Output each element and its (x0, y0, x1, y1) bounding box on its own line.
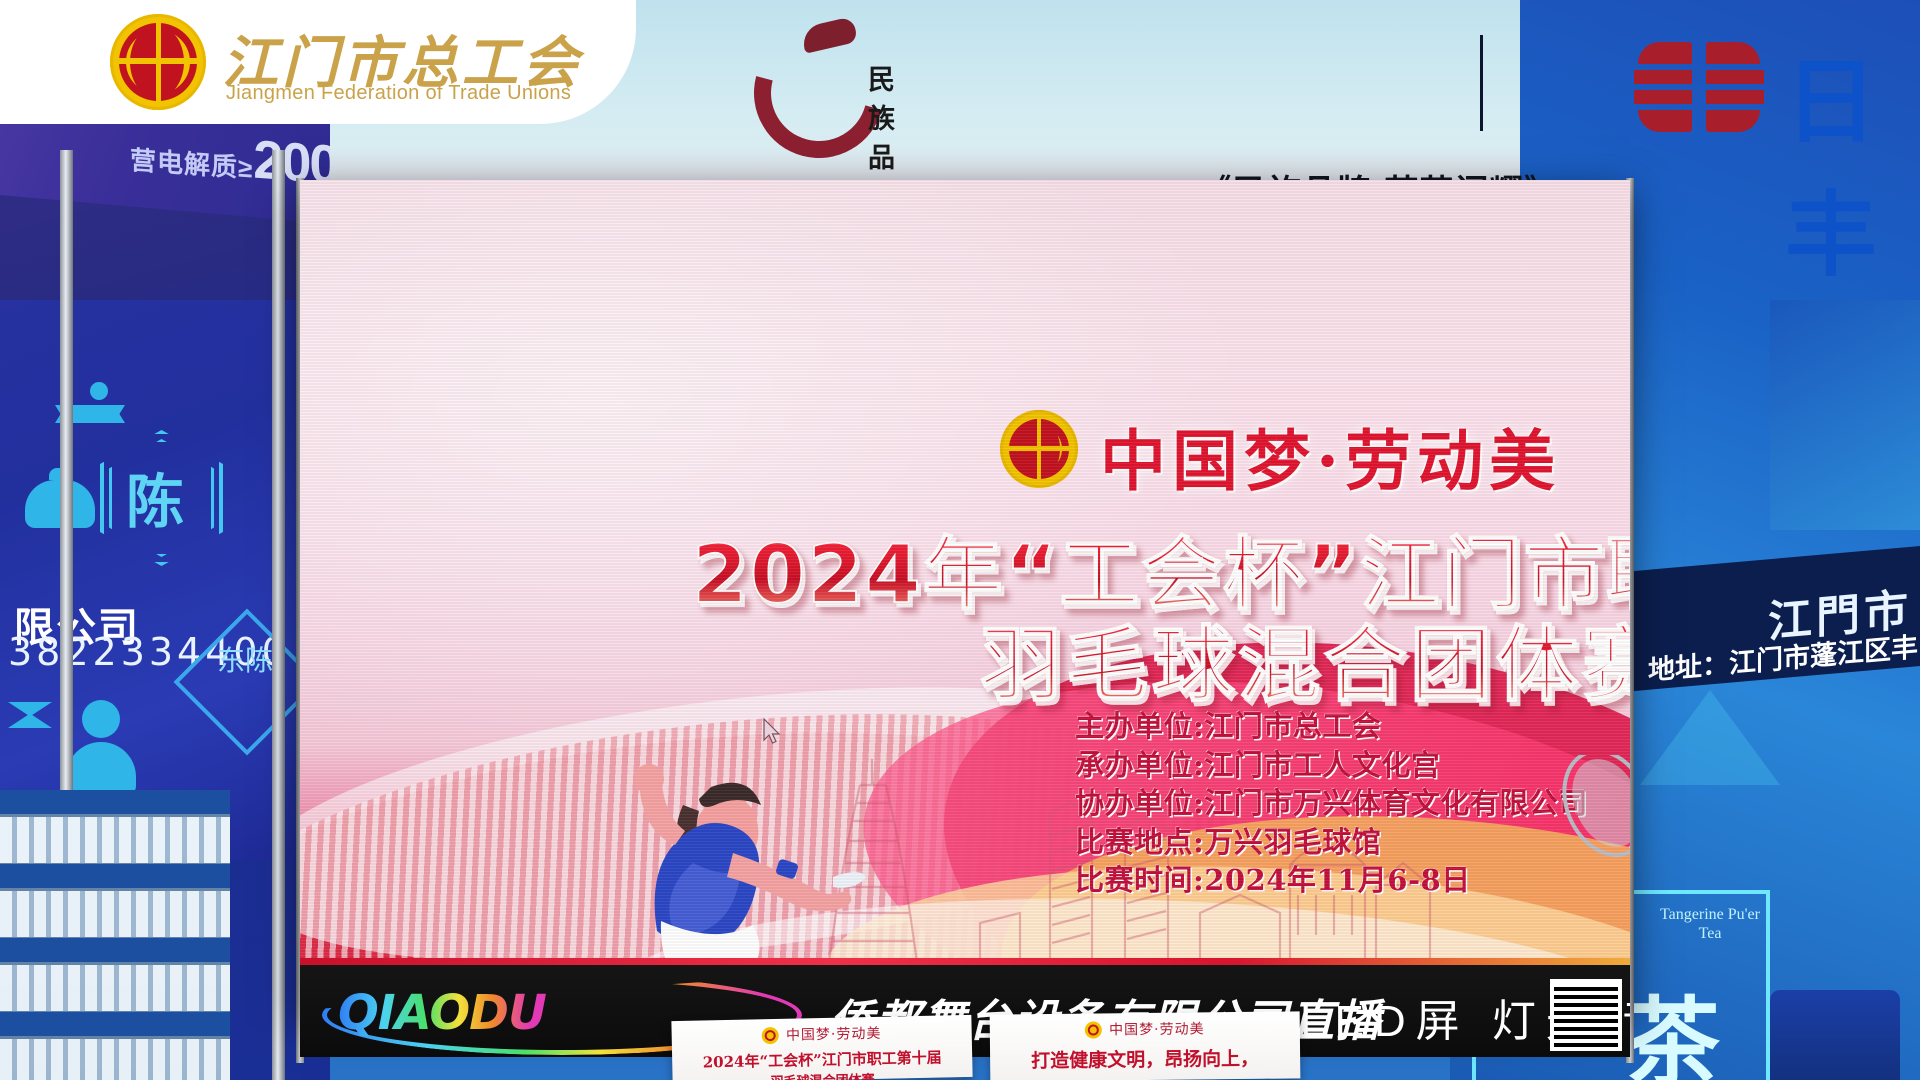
trade-union-emblem-icon (762, 1026, 779, 1043)
qiaodu-brand-en: QIAODU (338, 985, 546, 1041)
trade-union-emblem-icon (1000, 410, 1078, 488)
placard-motto-text: 打造健康文明，昂扬向上， (990, 1043, 1300, 1073)
chair (1770, 990, 1900, 1080)
left-blue-poster: 陈 限公司 3822334400 东陈 (0, 300, 300, 860)
support-pole (272, 150, 285, 1080)
led-display-board: 中国梦·劳动美 2024年“工会杯”江门市职工第十届 羽毛球混合团体赛 主办单位… (300, 180, 1630, 1015)
placard-event: 中国梦·劳动美 2024年“工会杯”江门市职工第十届 羽毛球混合团体赛 (671, 1015, 972, 1080)
trade-union-emblem-icon (1085, 1021, 1102, 1038)
placard-slogan-row: 中国梦·劳动美 (990, 1011, 1300, 1040)
info-date: 比赛时间:2024年11月6-8日 (1075, 861, 1588, 900)
led-screen-surface: 中国梦·劳动美 2024年“工会杯”江门市职工第十届 羽毛球混合团体赛 主办单位… (300, 180, 1630, 965)
placard-slogan-row: 中国梦·劳动美 (671, 1015, 971, 1047)
left-poster-char: 陈 (126, 455, 184, 539)
dragon-swoosh-icon (750, 18, 860, 128)
tea-ad-big-char: 茶 (1624, 965, 1720, 1080)
mouse-pointer-icon (762, 718, 782, 746)
dot-icon (90, 382, 108, 400)
triangle-icon (1640, 690, 1780, 785)
left-banner-label: 营电解质≥ (130, 145, 253, 184)
placard-motto: 中国梦·劳动美 打造健康文明，昂扬向上， (990, 1011, 1301, 1080)
tea-ad-en: Tangerine Pu'er Tea (1650, 905, 1770, 943)
placard-slogan: 中国梦·劳动美 (786, 1023, 882, 1045)
diamond-label: 东陈 (217, 644, 273, 677)
rifeng-sphere-icon (1630, 30, 1770, 142)
info-organizer: 主办单位:江门市总工会 (1075, 707, 1588, 746)
info-host: 承办单位:江门市工人文化宫 (1075, 746, 1588, 785)
info-venue: 比赛地点:万兴羽毛球馆 (1075, 823, 1588, 862)
sponsor-name: 日丰 (1785, 28, 1885, 294)
trade-union-emblem-icon (110, 14, 206, 110)
bowtie-icon (8, 702, 52, 728)
right-led-panel (1770, 300, 1920, 530)
water-bottle-stack (0, 790, 230, 1080)
overlay-org-en: Jiangmen Federation of Trade Unions (226, 82, 571, 105)
qr-code-icon[interactable] (1550, 979, 1622, 1051)
broadcast-logo-overlay: 江门市总工会 Jiangmen Federation of Trade Unio… (0, 0, 636, 124)
event-slogan: 中国梦·劳动美 (1100, 408, 1561, 504)
national-brand-lockup: 民族品牌 National brand (750, 18, 860, 128)
screenshot-root: 营电解质≥200mg 陈 限公司 3822334400 东陈 (0, 0, 1920, 1080)
placard-slogan: 中国梦·劳动美 (1109, 1018, 1205, 1039)
event-info-block: 主办单位:江门市总工会 承办单位:江门市工人文化宫 协办单位:江门市万兴体育文化… (1075, 707, 1588, 900)
vertical-divider (1480, 35, 1483, 131)
info-coorganizer: 协办单位:江门市万兴体育文化有限公司 (1075, 784, 1588, 823)
event-title-line2: 羽毛球混合团体赛 (980, 598, 1630, 717)
